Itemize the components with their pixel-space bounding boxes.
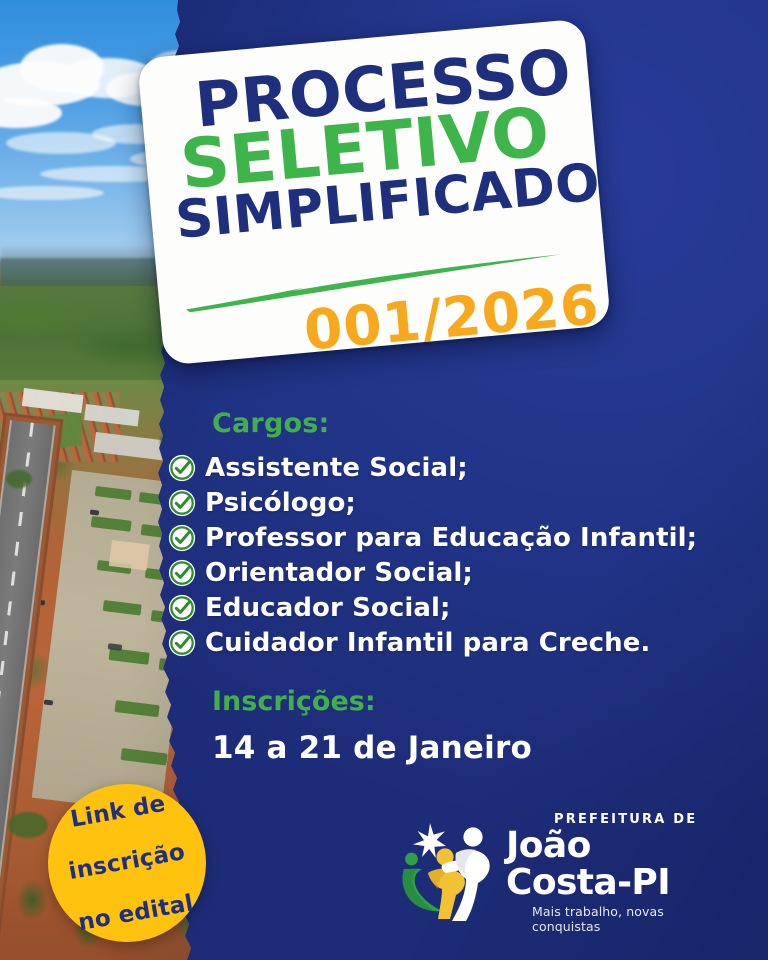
list-item: Psicólogo; xyxy=(168,488,768,518)
role-label: Psicólogo; xyxy=(205,488,356,518)
list-item: Cuidador Infantil para Creche. xyxy=(168,628,768,658)
roles-list: Assistente Social; Psicólogo; Professor … xyxy=(168,453,768,658)
content-column: Cargos: Assistente Social; Psicólogo; xyxy=(168,408,768,766)
check-circle-icon xyxy=(168,454,196,482)
check-circle-icon xyxy=(168,594,196,622)
list-item: Assistente Social; xyxy=(168,453,768,483)
logo-text-block: PREFEITURA DE João Costa-PI Mais trabalh… xyxy=(506,808,718,934)
registration-label: Inscrições: xyxy=(212,686,768,717)
role-label: Assistente Social; xyxy=(205,453,468,483)
roles-label: Cargos: xyxy=(212,408,768,439)
role-label: Professor para Educação Infantil; xyxy=(205,523,697,553)
role-label: Cuidador Infantil para Creche. xyxy=(205,628,650,658)
badge-text: Link deinscriçãono edital xyxy=(58,789,196,936)
logo-slogan: Mais trabalho, novas conquistas xyxy=(532,904,718,934)
poster-root: PROCESSO SELETIVO SIMPLIFICADO 001/2026 … xyxy=(0,0,768,960)
registration-section: Inscrições: 14 a 21 de Janeiro xyxy=(212,686,768,766)
city-hall-logo-icon xyxy=(398,819,502,923)
check-circle-icon xyxy=(168,629,196,657)
headline-card: PROCESSO SELETIVO SIMPLIFICADO 001/2026 xyxy=(137,18,611,365)
registration-dates: 14 a 21 de Janeiro xyxy=(212,730,768,766)
role-label: Orientador Social; xyxy=(205,558,473,588)
list-item: Orientador Social; xyxy=(168,558,768,588)
role-label: Educador Social; xyxy=(205,593,451,623)
list-item: Professor para Educação Infantil; xyxy=(168,523,768,553)
badge-line-2: inscrição xyxy=(67,840,187,886)
list-item: Educador Social; xyxy=(168,593,768,623)
city-hall-logo: PREFEITURA DE João Costa-PI Mais trabalh… xyxy=(398,812,718,930)
check-circle-icon xyxy=(168,559,196,587)
logo-city: João Costa-PI xyxy=(506,828,718,901)
check-circle-icon xyxy=(168,524,196,552)
check-circle-icon xyxy=(168,489,196,517)
